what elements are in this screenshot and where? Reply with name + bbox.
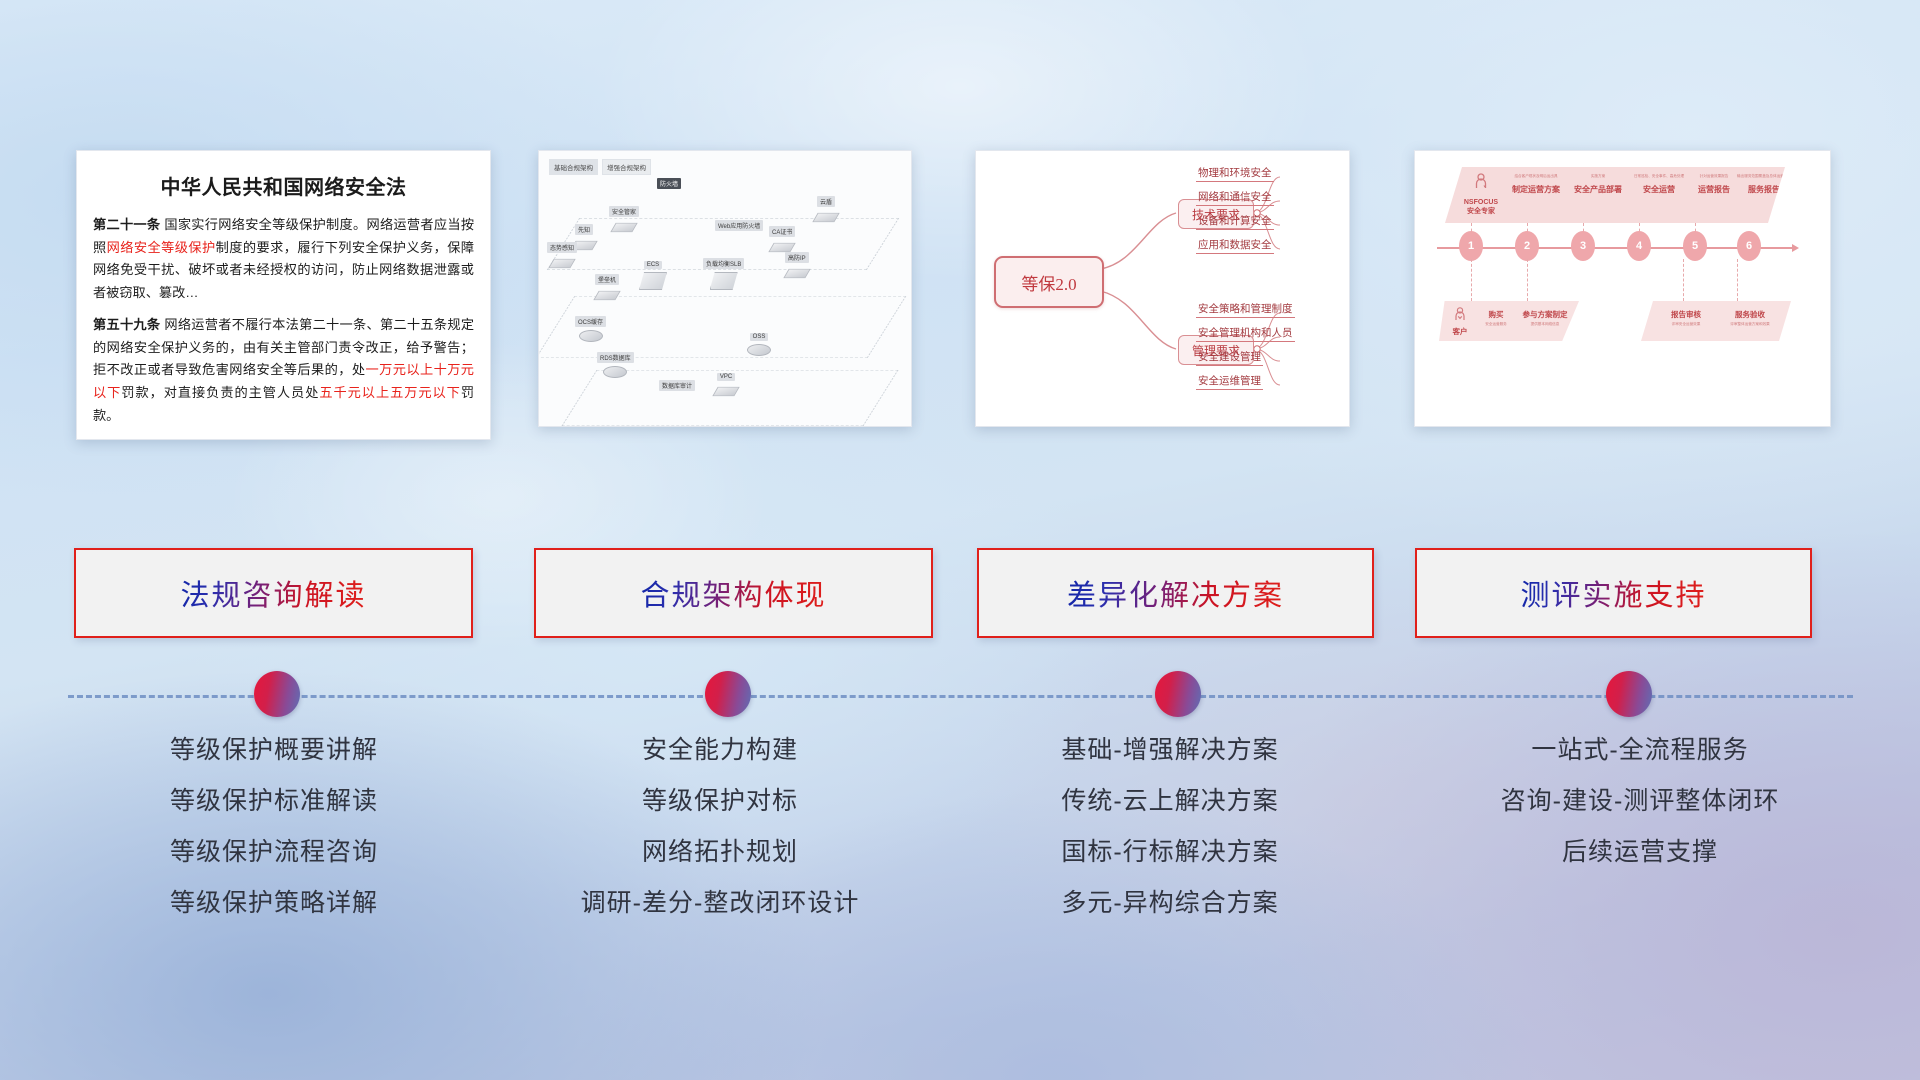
expert-cell-plan: 结合客户现状及明后运出具 制定运营方案 [1505, 175, 1567, 195]
architecture-tabs[interactable]: 基础合规架构 增强合规架构 [549, 159, 651, 175]
step-dot-1[interactable]: 1 [1459, 231, 1483, 261]
law-article-59: 第五十九条 网络运营者不履行本法第二十一条、第二十五条规定的网络安全保护义务的，… [93, 314, 474, 428]
tab-basic-architecture[interactable]: 基础合规架构 [549, 159, 598, 175]
section-title-row: 法规咨询解读 合规架构体现 差异化解决方案 测评实施支持 [0, 548, 1920, 634]
list-item: 咨询-建设-测评整体闭环 [1400, 789, 1880, 814]
law-article-21: 第二十一条 国家实行网络安全等级保护制度。网络运营者应当按照网络安全等级保护制度… [93, 214, 474, 305]
node-cloud-shield: 云盾 [815, 191, 837, 225]
expert-cell-ops-report: 针对运营效果报告 运营报告 [1687, 175, 1741, 195]
customer-cell-purchase: 购买 安全运营服务 [1475, 309, 1517, 327]
law-card-body: 中华人民共和国网络安全法 第二十一条 国家实行网络安全等级保护制度。网络运营者应… [77, 151, 490, 439]
node-security-steward: 安全管家 [609, 201, 639, 235]
feature-list-row: 等级保护概要讲解 等级保护标准解读 等级保护流程咨询 等级保护策略详解 安全能力… [0, 738, 1920, 978]
node-ocs-cache: OCS缓存 [575, 311, 606, 342]
architecture-diagram: 基础合规架构 增强合规架构 防火墙 安全管家 先知 态势感知 堡垒机 EC [539, 151, 911, 426]
article-21-label: 第二十一条 [93, 217, 160, 232]
person-expert-icon [1474, 173, 1488, 189]
article-59-label: 第五十九条 [93, 317, 160, 332]
node-anti-ddos-ip: 高防IP [785, 247, 809, 281]
thumbnail-card-row: 中华人民共和国网络安全法 第二十一条 国家实行网络安全等级保护制度。网络运营者应… [0, 150, 1920, 440]
card-compliance-architecture[interactable]: 基础合规架构 增强合规架构 防火墙 安全管家 先知 态势感知 堡垒机 EC [538, 150, 912, 427]
expert-role-cell: NSFOCUS 安全专家 [1451, 173, 1511, 216]
mindmap-leaf-device-compute-security: 设备和计算安全 [1196, 213, 1274, 230]
timeline-dot-1[interactable] [254, 671, 300, 717]
section-title-label-1: 法规咨询解读 [180, 572, 366, 614]
card-cybersecurity-law[interactable]: 中华人民共和国网络安全法 第二十一条 国家实行网络安全等级保护制度。网络运营者应… [76, 150, 491, 440]
list-item: 调研-差分-整改闭环设计 [500, 891, 940, 916]
node-firewall: 防火墙 [657, 173, 681, 191]
operations-diagram: NSFOCUS 安全专家 结合客户现状及明后运出具 制定运营方案 实施方案 安全… [1415, 151, 1830, 426]
expert-role-label-1: NSFOCUS [1451, 199, 1511, 206]
step-dot-3[interactable]: 3 [1571, 231, 1595, 261]
connector-dash-9 [1737, 259, 1739, 301]
section-title-label-3: 差异化解决方案 [1067, 572, 1284, 614]
progress-timeline [68, 693, 1853, 699]
list-item: 国标-行标解决方案 [950, 840, 1390, 865]
customer-tray-right: 报告审核 评审安全运营效果 服务验收 评审整体运营方案和效果 [1641, 301, 1791, 341]
section-title-label-4: 测评实施支持 [1520, 572, 1706, 614]
section-title-regulation-consulting[interactable]: 法规咨询解读 [74, 548, 473, 638]
mindmap-leaf-security-org-personnel: 安全管理机构和人员 [1196, 325, 1295, 342]
mindmap-leaf-security-construction-mgmt: 安全建设管理 [1196, 349, 1263, 366]
list-item: 安全能力构建 [500, 738, 940, 763]
list-item: 多元-异构综合方案 [950, 891, 1390, 916]
node-oss: OSS [747, 325, 771, 356]
card-mindmap-dengbao[interactable]: 等保2.0 技术要求 管理要求 物理和环境安全 网络和通信安全 设备和计算安全 … [975, 150, 1350, 427]
section-title-differentiated-solution[interactable]: 差异化解决方案 [977, 548, 1374, 638]
expert-role-label-2: 安全专家 [1451, 206, 1511, 216]
person-customer-icon [1454, 307, 1466, 321]
card-operations-timeline[interactable]: NSFOCUS 安全专家 结合客户现状及明后运出具 制定运营方案 实施方案 安全… [1414, 150, 1831, 427]
expert-banner: NSFOCUS 安全专家 结合客户现状及明后运出具 制定运营方案 实施方案 安全… [1445, 167, 1785, 223]
list-item: 后续运营支撑 [1400, 840, 1880, 865]
node-slb: 负载均衡SLB [703, 253, 744, 290]
customer-cell-participate: 参与方案制定 提供基本网络信息 [1515, 309, 1575, 327]
node-vpc: VPC [715, 365, 737, 399]
node-rds-database: RDS数据库 [597, 347, 634, 378]
list-item: 传统-云上解决方案 [950, 789, 1390, 814]
node-web-application-firewall: Web应用防火墙 [715, 215, 763, 233]
timeline-dashed-line [68, 695, 1853, 698]
customer-role-cell: 客户 [1443, 307, 1477, 337]
expert-cell-operate: 日常巡检、安全事件、高危处理 安全运营 [1629, 175, 1689, 195]
mindmap-leaf-physical-env-security: 物理和环境安全 [1196, 165, 1274, 182]
mindmap-diagram: 等保2.0 技术要求 管理要求 物理和环境安全 网络和通信安全 设备和计算安全 … [976, 151, 1349, 426]
tab-enhanced-architecture[interactable]: 增强合规架构 [602, 159, 651, 175]
node-bastion-host: 堡垒机 [595, 269, 619, 303]
section-title-label-2: 合规架构体现 [640, 572, 826, 614]
connector-dash-6 [1471, 259, 1473, 301]
article-21-highlight: 网络安全等级保护 [107, 240, 216, 255]
list-item: 基础-增强解决方案 [950, 738, 1390, 763]
timeline-dot-2[interactable] [705, 671, 751, 717]
feature-column-1: 等级保护概要讲解 等级保护标准解读 等级保护流程咨询 等级保护策略详解 [54, 738, 494, 942]
node-ecs: ECS [639, 253, 667, 290]
step-dot-6[interactable]: 6 [1737, 231, 1761, 261]
node-situational-awareness: 态势感知 [547, 237, 577, 271]
connector-dash-8 [1683, 259, 1685, 301]
timeline-dot-3[interactable] [1155, 671, 1201, 717]
customer-cell-service-acceptance: 服务验收 评审整体运营方案和效果 [1717, 309, 1783, 327]
connector-dash-7 [1527, 259, 1529, 301]
expert-cell-service-report: 输出服务范围覆盖及总体运营效果 服务报告 [1737, 175, 1791, 195]
customer-tray-left: 客户 购买 安全运营服务 参与方案制定 提供基本网络信息 [1439, 301, 1579, 341]
list-item: 一站式-全流程服务 [1400, 738, 1880, 763]
mindmap-leaf-app-data-security: 应用和数据安全 [1196, 237, 1274, 254]
list-item: 网络拓扑规划 [500, 840, 940, 865]
list-item: 等级保护标准解读 [54, 789, 494, 814]
step-dot-4[interactable]: 4 [1627, 231, 1651, 261]
law-title: 中华人民共和国网络安全法 [93, 171, 474, 200]
feature-column-2: 安全能力构建 等级保护对标 网络拓扑规划 调研-差分-整改闭环设计 [500, 738, 940, 942]
mindmap-leaf-security-policy-system: 安全策略和管理制度 [1196, 301, 1295, 318]
customer-role-label: 客户 [1443, 326, 1477, 337]
article-59-highlight-2: 五千元以上五万元以下 [319, 385, 460, 400]
timeline-dot-4[interactable] [1606, 671, 1652, 717]
list-item: 等级保护对标 [500, 789, 940, 814]
mindmap-leaf-security-ops-mgmt: 安全运维管理 [1196, 373, 1263, 390]
mindmap-leaf-network-comm-security: 网络和通信安全 [1196, 189, 1274, 206]
mindmap-center-node: 等保2.0 [994, 256, 1104, 308]
section-title-compliance-architecture[interactable]: 合规架构体现 [534, 548, 933, 638]
feature-column-4: 一站式-全流程服务 咨询-建设-测评整体闭环 后续运营支撑 [1400, 738, 1880, 891]
node-database-audit: 数据库审计 [659, 375, 695, 393]
section-title-evaluation-support[interactable]: 测评实施支持 [1415, 548, 1812, 638]
feature-column-3: 基础-增强解决方案 传统-云上解决方案 国标-行标解决方案 多元-异构综合方案 [950, 738, 1390, 942]
article-59-text-b: 罚款，对直接负责的主管人员处 [121, 385, 319, 400]
step-dot-5[interactable]: 5 [1683, 231, 1707, 261]
list-item: 等级保护流程咨询 [54, 840, 494, 865]
customer-cell-report-review: 报告审核 评审安全运营效果 [1655, 309, 1717, 327]
list-item: 等级保护策略详解 [54, 891, 494, 916]
step-dot-2[interactable]: 2 [1515, 231, 1539, 261]
list-item: 等级保护概要讲解 [54, 738, 494, 763]
expert-cell-deploy: 实施方案 安全产品部署 [1567, 175, 1629, 195]
